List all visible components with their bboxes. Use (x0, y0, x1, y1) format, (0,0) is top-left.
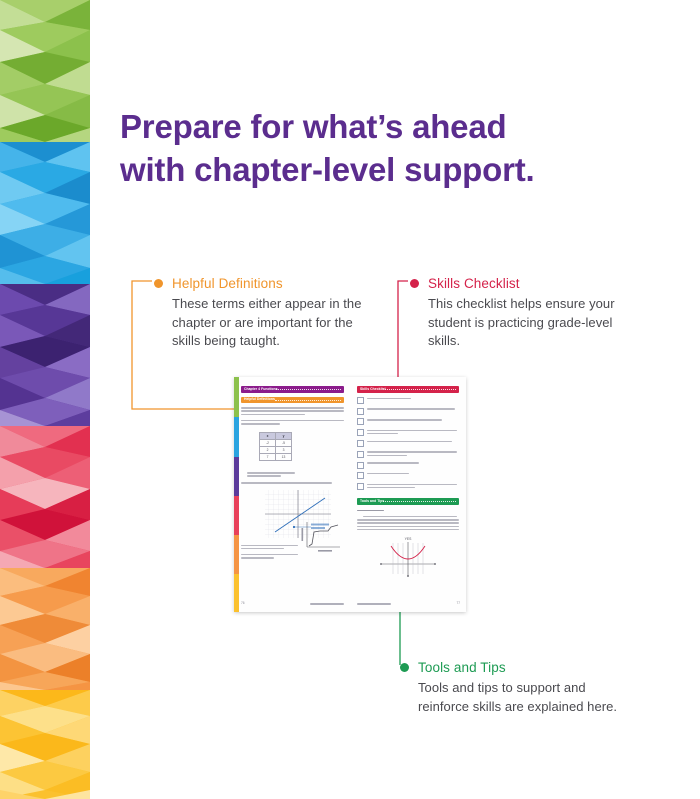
callout-skills-checklist: Skills Checklist This checklist helps en… (410, 276, 625, 351)
checkbox-icon[interactable] (357, 429, 364, 436)
table-cell: 2 (260, 447, 276, 454)
chapter-header-bar: Chapter 4 Functions (241, 386, 344, 393)
list-item[interactable] (357, 440, 459, 447)
checkbox-icon[interactable] (357, 462, 364, 469)
table-cell: 7 (260, 454, 276, 461)
callout-helpful-definitions: Helpful Definitions These terms either a… (154, 276, 384, 351)
list-item[interactable] (357, 450, 459, 457)
list-item[interactable] (357, 407, 459, 414)
time-distance-line-chart (298, 520, 342, 554)
table-cell: -2 (260, 440, 276, 447)
definition-paragraph-5 (241, 554, 298, 559)
checkbox-icon[interactable] (357, 397, 364, 404)
definition-paragraph-2 (241, 420, 344, 425)
list-item[interactable] (357, 472, 459, 479)
checklist-header-label: Skills Checklist (360, 387, 386, 391)
page-footer-right: 77 (357, 601, 460, 605)
callout-tools-and-tips: Tools and Tips Tools and tips to support… (400, 660, 640, 716)
list-item[interactable] (357, 483, 459, 490)
list-item[interactable] (357, 461, 459, 468)
table-header-cell: x (260, 433, 276, 440)
decorative-color-strip (0, 0, 90, 799)
list-item[interactable] (357, 397, 459, 404)
table-cell: 3 (276, 447, 292, 454)
checkbox-icon[interactable] (357, 418, 364, 425)
checkbox-icon[interactable] (357, 440, 364, 447)
function-value-table: x y -2 -5 2 3 7 13 (259, 432, 292, 461)
list-item[interactable] (357, 418, 459, 425)
table-row: -2 -5 (260, 440, 292, 447)
table-header-cell: y (276, 433, 292, 440)
table-row: 7 13 (260, 454, 292, 461)
page-number: 77 (456, 601, 460, 605)
tools-subheading (357, 510, 459, 512)
tools-header-bar: Tools and Tips (357, 498, 459, 505)
checkbox-icon[interactable] (357, 408, 364, 415)
callout-title: Skills Checklist (410, 276, 625, 292)
page-imprint (357, 603, 391, 605)
vertical-line-test-figure: YES (377, 534, 439, 578)
book-page-right: Skills Checklist (350, 377, 466, 612)
checkbox-icon[interactable] (357, 451, 364, 458)
header-dot-rule (383, 501, 456, 502)
table-side-note (247, 472, 295, 478)
book-color-edge (234, 377, 239, 612)
definitions-header-label: Helpful Definitions (244, 397, 275, 401)
book-spread-image: Chapter 4 Functions Helpful Definitions (234, 377, 466, 612)
definition-paragraph-3 (241, 482, 344, 484)
tools-paragraph (357, 516, 459, 531)
header-dot-rule (385, 389, 456, 390)
skills-checklist (357, 397, 459, 491)
page-footer-left: 76 (241, 601, 344, 605)
header-dot-rule (275, 400, 341, 401)
figure-label: YES (405, 537, 413, 541)
list-item[interactable] (357, 429, 459, 436)
table-cell: -5 (276, 440, 292, 447)
header-dot-rule (276, 389, 341, 390)
callout-title: Helpful Definitions (154, 276, 384, 292)
page-headline: Prepare for what’s ahead with chapter-le… (120, 106, 640, 192)
checkbox-icon[interactable] (357, 483, 364, 490)
checkbox-icon[interactable] (357, 472, 364, 479)
bullet-dot-icon (410, 279, 419, 288)
page-number: 76 (241, 601, 245, 605)
table-row: 2 3 (260, 447, 292, 454)
callout-body: Tools and tips to support and reinforce … (400, 679, 640, 716)
callout-title: Tools and Tips (400, 660, 640, 676)
chapter-header-label: Chapter 4 Functions (244, 387, 278, 391)
definition-paragraph-1 (241, 407, 344, 415)
callout-body: These terms either appear in the chapter… (154, 295, 384, 351)
headline-line-2: with chapter-level support. (120, 149, 640, 192)
definitions-header-bar: Helpful Definitions (241, 397, 344, 404)
table-cell: 13 (276, 454, 292, 461)
checklist-header-bar: Skills Checklist (357, 386, 459, 393)
bullet-dot-icon (154, 279, 163, 288)
page-imprint (310, 603, 344, 605)
tools-header-label: Tools and Tips (360, 499, 384, 503)
headline-line-1: Prepare for what’s ahead (120, 106, 640, 149)
bullet-dot-icon (400, 663, 409, 672)
definition-paragraph-4 (241, 545, 298, 550)
book-page-left: Chapter 4 Functions Helpful Definitions (234, 377, 351, 612)
callout-body: This checklist helps ensure your student… (410, 295, 625, 351)
